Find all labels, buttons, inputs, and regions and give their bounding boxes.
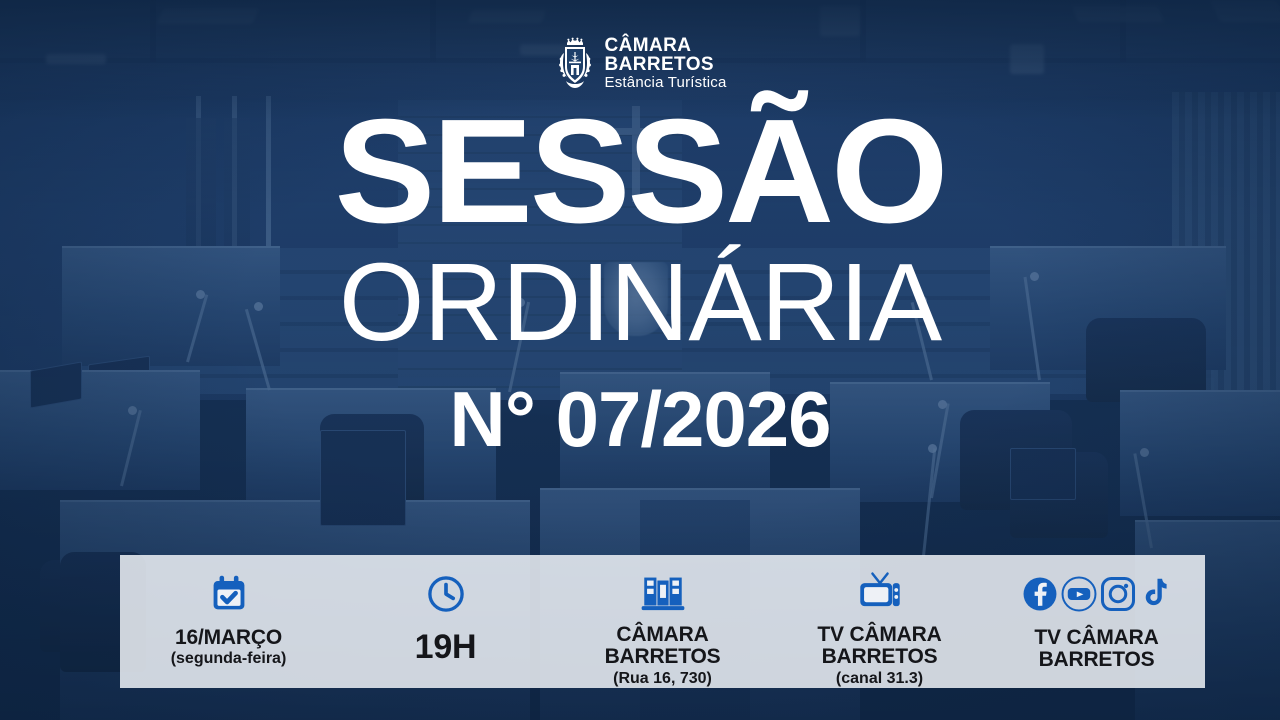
session-announcement-poster: CÂMARA BARRETOS Estância Turística SESSÃ… (0, 0, 1280, 720)
venue-address: (Rua 16, 730) (613, 670, 712, 688)
info-cell-time: 19H (337, 555, 554, 688)
headline-block: SESSÃO ORDINÁRIA N° 07/2026 (0, 108, 1280, 458)
venue-name-line-2: BARRETOS (605, 645, 721, 668)
session-type-secondary: ORDINÁRIA (0, 251, 1280, 356)
social-channel-name: TV CÂMARA BARRETOS (1034, 627, 1158, 672)
instagram-icon[interactable] (1099, 575, 1137, 613)
social-name-line-1: TV CÂMARA (1034, 626, 1158, 649)
venue-name-line-1: CÂMARA (616, 623, 708, 646)
tv-channel-name: TV CÂMARA BARRETOS (817, 624, 941, 669)
building-icon (640, 572, 686, 614)
session-number: N° 07/2026 (0, 380, 1280, 458)
brand-tagline: Estância Turística (605, 75, 727, 90)
time-value: 19H (415, 629, 477, 665)
date-value: 16/MARÇO (175, 627, 282, 649)
brand-line-2: BARRETOS (605, 55, 727, 74)
facebook-icon[interactable] (1021, 575, 1059, 613)
session-type-primary: SESSÃO (0, 108, 1280, 235)
brand-line-1: CÂMARA (605, 36, 727, 55)
tiktok-icon[interactable] (1138, 575, 1172, 613)
tv-name-line-1: TV CÂMARA (817, 623, 941, 646)
brand-logo: CÂMARA BARRETOS Estância Turística (0, 36, 1280, 90)
tv-name-line-2: BARRETOS (822, 645, 938, 668)
info-cell-tv: TV CÂMARA BARRETOS (canal 31.3) (771, 555, 988, 688)
clock-icon (425, 573, 467, 615)
weekday-value: (segunda-feira) (171, 650, 287, 668)
calendar-check-icon (208, 573, 250, 615)
info-cell-date: 16/MARÇO (segunda-feira) (120, 555, 337, 688)
info-cell-venue: CÂMARA BARRETOS (Rua 16, 730) (554, 555, 771, 688)
info-bar: 16/MARÇO (segunda-feira) 19H (120, 555, 1205, 688)
barretos-coat-of-arms-icon (554, 37, 596, 89)
tv-channel-number: (canal 31.3) (836, 670, 923, 688)
info-cell-social: TV CÂMARA BARRETOS (988, 555, 1205, 688)
social-name-line-2: BARRETOS (1039, 648, 1155, 671)
television-icon (857, 571, 903, 615)
youtube-icon[interactable] (1060, 575, 1098, 613)
venue-name: CÂMARA BARRETOS (605, 624, 721, 669)
social-icon-row (1021, 575, 1172, 613)
